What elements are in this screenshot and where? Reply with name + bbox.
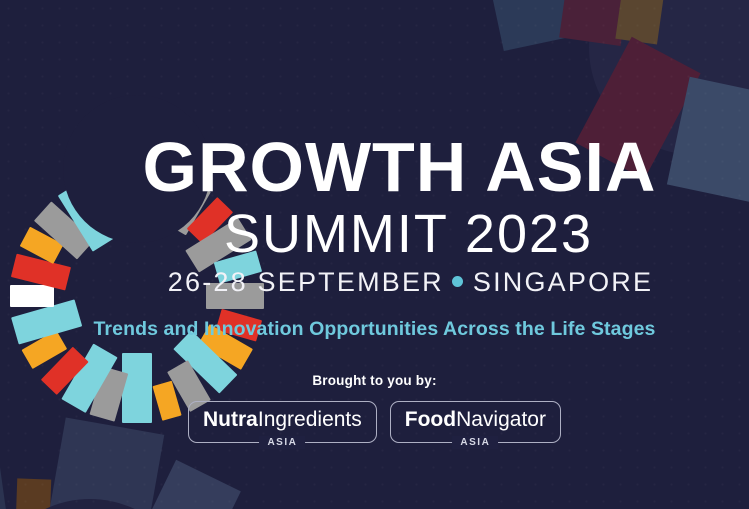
sponsor-logo-row: NutraIngredients ASIA FoodNavigator ASIA (0, 401, 749, 443)
sponsor-name: FoodNavigator (405, 409, 546, 431)
sponsor-byline: Brought to you by: (0, 373, 749, 388)
event-date-location: 26-28 SEPTEMBERSINGAPORE (0, 269, 749, 296)
sponsor-name-bold: Food (405, 408, 456, 431)
sponsor-name: NutraIngredients (203, 409, 362, 431)
event-dates: 26-28 SEPTEMBER (168, 267, 444, 297)
event-title: GROWTH ASIA (0, 132, 749, 202)
event-subtitle: SUMMIT 2023 (0, 207, 749, 261)
event-location: SINGAPORE (473, 267, 653, 297)
event-tagline: Trends and Innovation Opportunities Acro… (0, 318, 749, 341)
sponsor-name-light: Ingredients (258, 408, 362, 431)
sponsor-logo-nutraingredients[interactable]: NutraIngredients ASIA (188, 401, 377, 443)
sponsor-region: ASIA (452, 436, 498, 449)
sponsor-name-light: Navigator (456, 408, 546, 431)
sponsor-logo-foodnavigator[interactable]: FoodNavigator ASIA (390, 401, 561, 443)
sponsor-name-bold: Nutra (203, 408, 258, 431)
bullet-separator-icon (452, 276, 463, 287)
sponsor-region: ASIA (259, 436, 305, 449)
event-banner: GROWTH ASIA SUMMIT 2023 26-28 SEPTEMBERS… (0, 0, 749, 509)
